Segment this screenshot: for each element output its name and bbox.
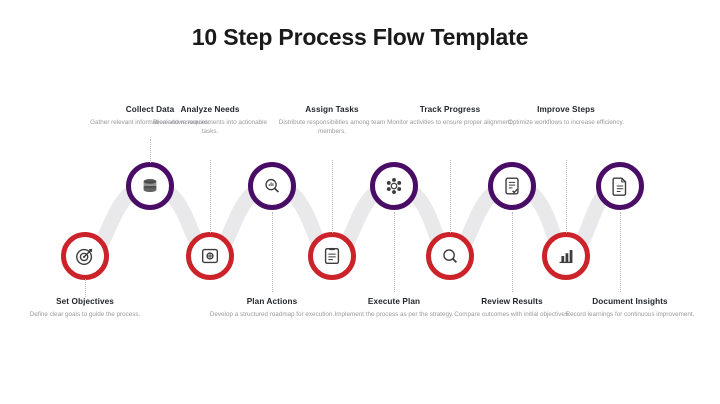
step-title-5: Assign Tasks bbox=[266, 105, 398, 115]
step-caption-1: Set Objectives Define clear goals to gui… bbox=[19, 297, 151, 319]
leader-line-9 bbox=[566, 160, 567, 233]
step-caption-5: Assign Tasks Distribute responsibilities… bbox=[266, 105, 398, 137]
clipboard-tasks-icon bbox=[321, 245, 343, 267]
step-desc-10: Record learnings for continuous improvem… bbox=[564, 310, 696, 319]
step-title-10: Document Insights bbox=[564, 297, 696, 307]
leader-line-8 bbox=[512, 212, 513, 292]
analysis-frame-icon bbox=[199, 245, 221, 267]
step-caption-9: Improve Steps Optimize workflows to incr… bbox=[500, 105, 632, 127]
step-ring-10[interactable] bbox=[596, 162, 644, 210]
step-title-1: Set Objectives bbox=[19, 297, 151, 307]
step-ring-8[interactable] bbox=[488, 162, 536, 210]
step-title-8: Review Results bbox=[446, 297, 578, 307]
magnifier-chart-icon bbox=[261, 175, 283, 197]
step-ring-3[interactable] bbox=[186, 232, 234, 280]
step-desc-9: Optimize workflows to increase efficienc… bbox=[500, 118, 632, 127]
step-ring-1[interactable] bbox=[61, 232, 109, 280]
leader-line-7 bbox=[450, 160, 451, 233]
step-ring-9[interactable] bbox=[542, 232, 590, 280]
step-caption-6: Execute Plan Implement the process as pe… bbox=[328, 297, 460, 319]
leader-line-6 bbox=[394, 212, 395, 292]
step-ring-5[interactable] bbox=[308, 232, 356, 280]
document-check-icon bbox=[439, 245, 461, 267]
document-lines-icon bbox=[609, 175, 631, 197]
leader-line-3 bbox=[210, 160, 211, 233]
step-ring-7[interactable] bbox=[426, 232, 474, 280]
step-caption-3: Analyze Needs Break down requirements in… bbox=[144, 105, 276, 137]
step-ring-4[interactable] bbox=[248, 162, 296, 210]
step-desc-6: Implement the process as per the strateg… bbox=[328, 310, 460, 319]
step-title-3: Analyze Needs bbox=[144, 105, 276, 115]
step-caption-4: Plan Actions Develop a structured roadma… bbox=[206, 297, 338, 319]
step-ring-2[interactable] bbox=[126, 162, 174, 210]
step-desc-3: Break down requirements into actionable … bbox=[144, 118, 276, 136]
process-flow-diagram: Set Objectives Define clear goals to gui… bbox=[0, 0, 720, 404]
search-icon bbox=[501, 175, 523, 197]
step-caption-10: Document Insights Record learnings for c… bbox=[564, 297, 696, 319]
leader-line-4 bbox=[272, 212, 273, 292]
step-desc-8: Compare outcomes with initial objectives… bbox=[446, 310, 578, 319]
step-desc-5: Distribute responsibilities among team m… bbox=[266, 118, 398, 136]
step-desc-7: Monitor activities to ensure proper alig… bbox=[384, 118, 516, 127]
step-desc-1: Define clear goals to guide the process. bbox=[19, 310, 151, 319]
step-title-6: Execute Plan bbox=[328, 297, 460, 307]
slide-canvas: 10 Step Process Flow Template bbox=[0, 0, 720, 404]
step-title-7: Track Progress bbox=[384, 105, 516, 115]
step-title-4: Plan Actions bbox=[206, 297, 338, 307]
step-desc-4: Develop a structured roadmap for executi… bbox=[206, 310, 338, 319]
target-icon bbox=[74, 245, 96, 267]
leader-line-1 bbox=[85, 279, 86, 297]
step-caption-7: Track Progress Monitor activities to ens… bbox=[384, 105, 516, 127]
step-title-9: Improve Steps bbox=[500, 105, 632, 115]
leader-line-2 bbox=[150, 139, 151, 163]
step-caption-8: Review Results Compare outcomes with ini… bbox=[446, 297, 578, 319]
leader-line-10 bbox=[620, 212, 621, 292]
growth-chart-icon bbox=[555, 245, 577, 267]
database-stack-icon bbox=[139, 175, 161, 197]
step-ring-6[interactable] bbox=[370, 162, 418, 210]
leader-line-5 bbox=[332, 160, 333, 233]
gear-team-icon bbox=[383, 175, 405, 197]
